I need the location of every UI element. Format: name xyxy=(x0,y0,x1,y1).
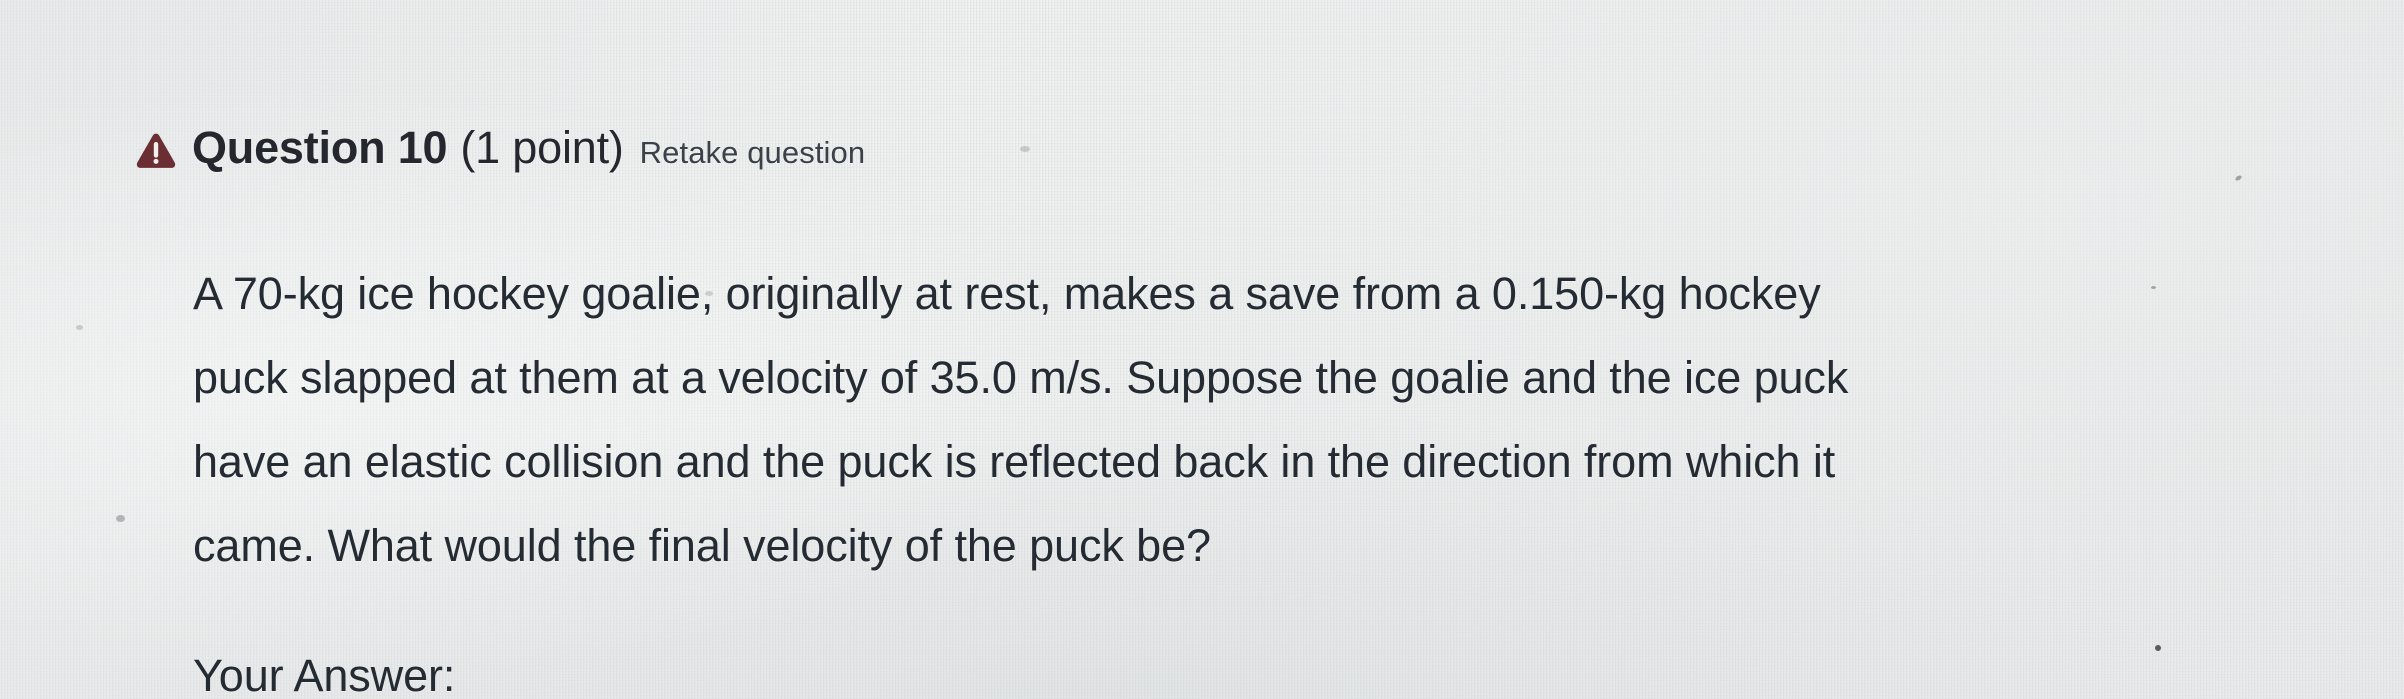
warning-triangle-icon xyxy=(136,132,176,169)
dust-speck xyxy=(76,325,83,330)
page-title: Question 10 xyxy=(192,122,447,174)
your-answer-label: Your Answer: xyxy=(193,648,455,699)
dust-speck xyxy=(2234,174,2242,181)
question-text: A 70-kg ice hockey goalie, originally at… xyxy=(193,252,2404,588)
dust-speck xyxy=(1020,146,1030,152)
question-text-line: A 70-kg ice hockey goalie, originally at… xyxy=(193,252,2404,336)
question-text-line: came. What would the final velocity of t… xyxy=(193,504,2404,588)
dust-speck xyxy=(2155,645,2161,651)
question-points-label: (1 point) xyxy=(460,122,623,174)
question-text-line: have an elastic collision and the puck i… xyxy=(193,420,2404,504)
dust-speck xyxy=(116,515,125,522)
question-text-line: puck slapped at them at a velocity of 35… xyxy=(193,336,2404,420)
question-header: Question 10 (1 point) Retake question xyxy=(136,122,865,174)
quiz-question-screenshot: Question 10 (1 point) Retake question A … xyxy=(0,0,2404,699)
retake-question-link[interactable]: Retake question xyxy=(640,135,866,171)
